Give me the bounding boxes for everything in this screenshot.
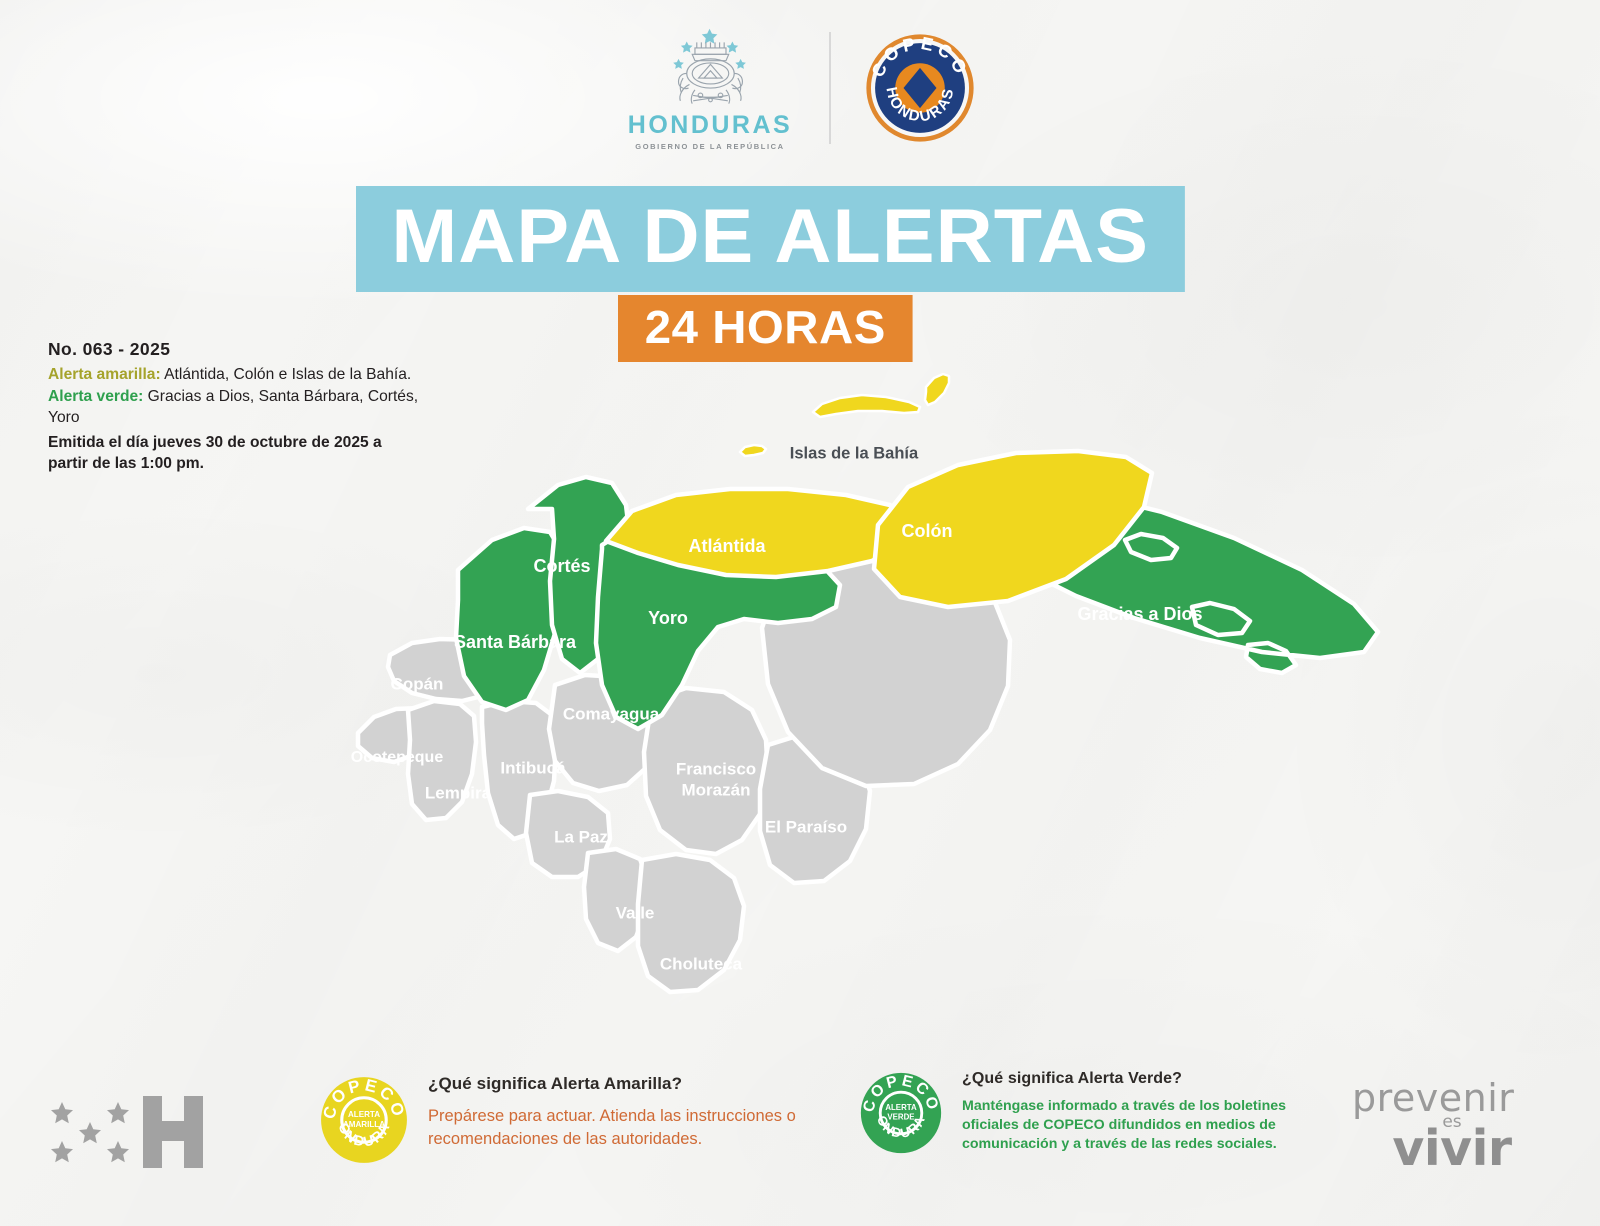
prevenir-es-vivir-logo: prevenir es vivir [1352,1080,1552,1180]
header-logos: HONDURAS GOBIERNO DE LA REPÚBLICA COPECO… [0,18,1600,158]
alerta-amarilla-label: Alerta amarilla: [48,366,161,383]
copeco-seal-icon: COPECO HONDURAS [865,33,975,143]
copeco-alerta-amarilla-seal-icon: COPECO HONDURAS ALERTA AMARILLA [318,1074,410,1166]
honduras-government-logo: HONDURAS GOBIERNO DE LA REPÚBLICA [625,26,795,151]
gov-subtitle: GOBIERNO DE LA REPÚBLICA [635,142,784,151]
copeco-alerta-verde-seal-icon: COPECO HONDURAS ALERTA VERDE [858,1070,944,1156]
logo-divider [829,32,831,144]
svg-text:VERDE: VERDE [887,1112,914,1121]
title-sub-banner: 24 HORAS [618,295,904,362]
region-lempira[interactable] [408,701,476,820]
legend-green-question: ¿Qué significa Alerta Verde? [962,1070,1288,1088]
map-svg: AtlántidaColónIslas de la BahíaGracias a… [330,355,1390,1015]
page-title: MAPA DE ALERTAS [356,186,1184,292]
prevenir-line-3: vivir [1352,1127,1552,1171]
gov-wordmark: HONDURAS [628,113,792,138]
legend-alerta-verde: COPECO HONDURAS ALERTA VERDE ¿Qué signif… [858,1070,1288,1156]
legend-yellow-question: ¿Qué significa Alerta Amarilla? [428,1074,848,1094]
prevenir-line-1: prevenir [1352,1080,1552,1116]
region-choluteca[interactable] [638,854,744,992]
page-subtitle: 24 HORAS [618,295,913,362]
honduras-coat-of-arms-icon [642,26,779,110]
footer: COPECO HONDURAS ALERTA AMARILLA ¿Qué sig… [0,1062,1600,1212]
title-main-banner: MAPA DE ALERTAS [356,186,1153,292]
legend-yellow-answer: Prepárese para actuar. Atienda las instr… [428,1105,848,1152]
svg-text:AMARILLA: AMARILLA [343,1120,385,1129]
map-label-islas-de-la-bah-a: Islas de la Bahía [790,444,919,462]
honduras-alert-map: AtlántidaColónIslas de la BahíaGracias a… [330,355,1390,1015]
legend-alerta-amarilla: COPECO HONDURAS ALERTA AMARILLA ¿Qué sig… [318,1074,848,1166]
alerta-verde-label: Alerta verde: [48,388,143,405]
svg-text:ALERTA: ALERTA [348,1110,380,1119]
honduras-flag-stars-h-icon [46,1078,211,1174]
region-santa-barbara[interactable] [456,528,562,710]
svg-text:ALERTA: ALERTA [885,1103,917,1112]
legend-green-answer: Manténgase informado a través de los bol… [962,1097,1288,1154]
